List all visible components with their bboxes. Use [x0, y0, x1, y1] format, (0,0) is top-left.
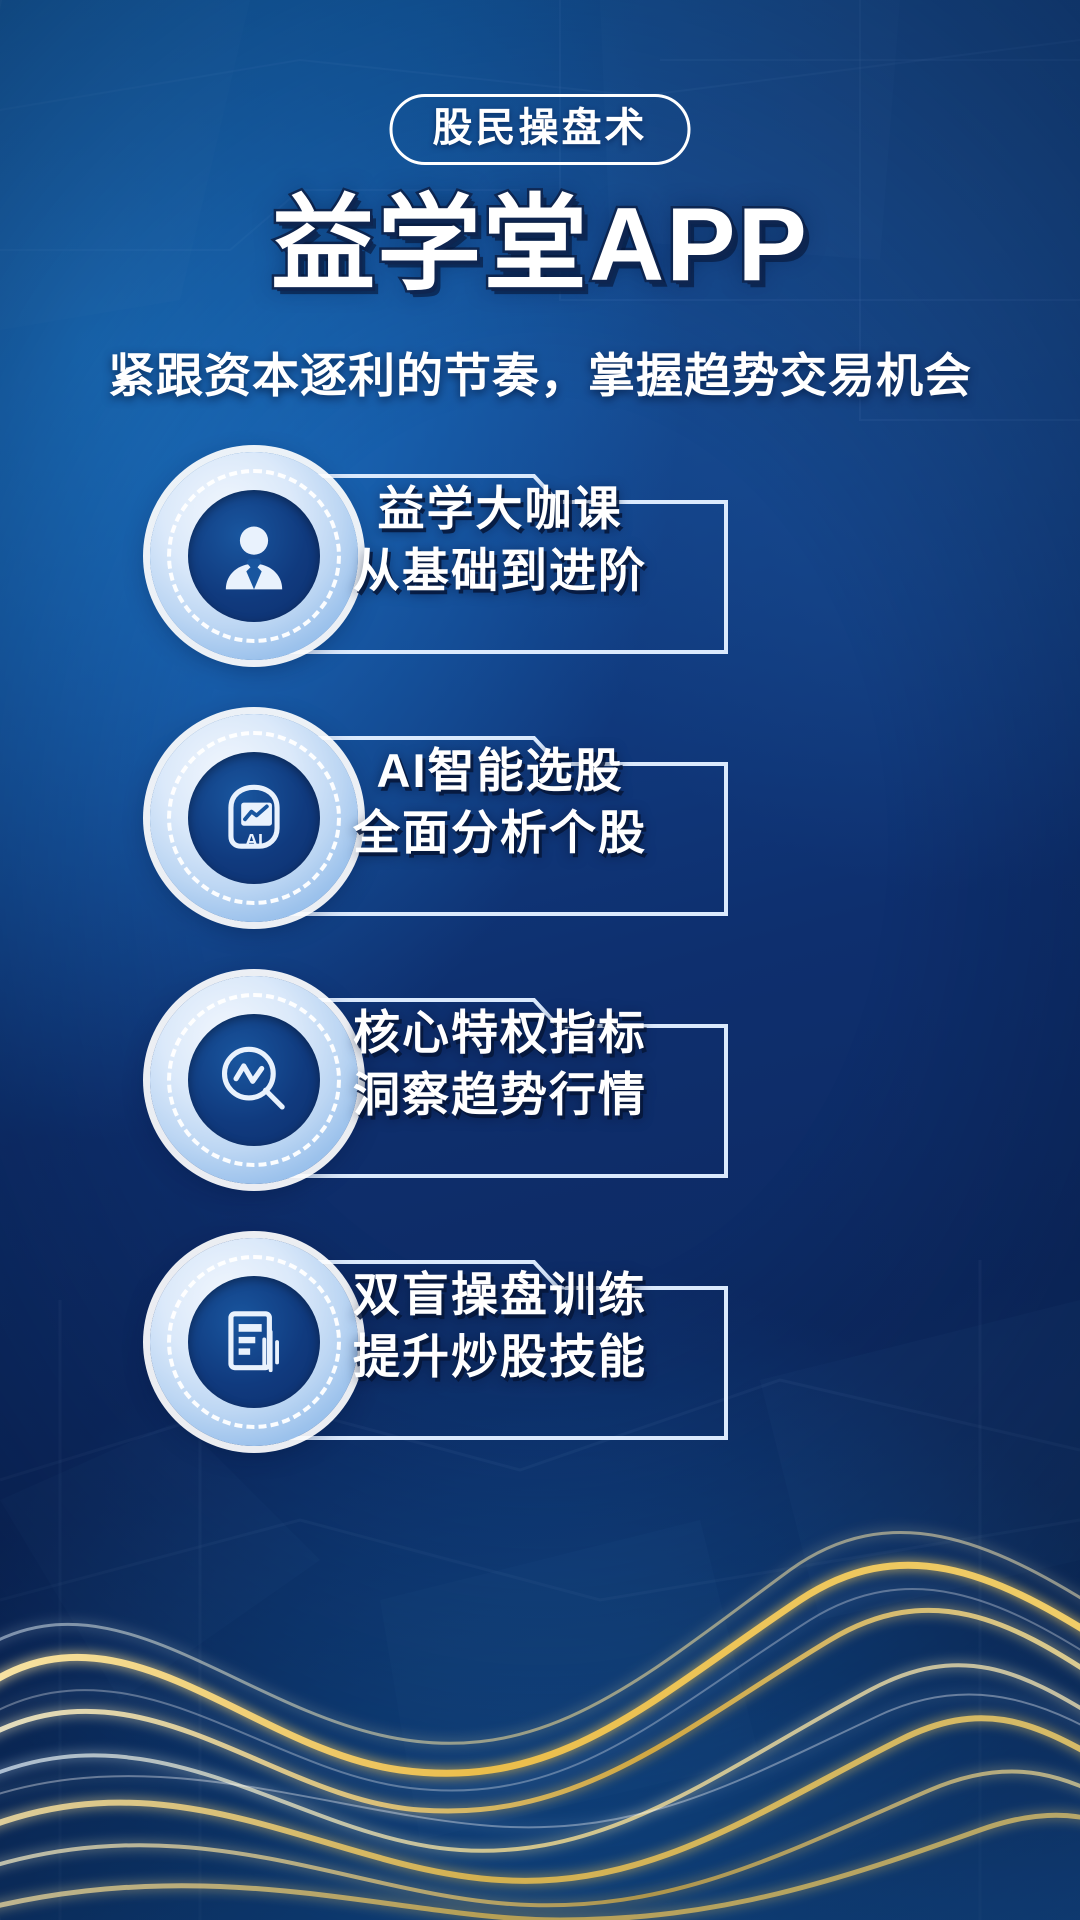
feature-card-text: AI智能选股 全面分析个股: [300, 740, 700, 864]
feature-line-1: 双盲操盘训练: [300, 1264, 700, 1326]
feature-line-1: AI智能选股: [300, 740, 700, 802]
feature-list: 益学大咖课 从基础到进阶 AI: [0, 452, 1080, 1500]
feature-line-1: 核心特权指标: [300, 1002, 700, 1064]
feature-line-2: 全面分析个股: [300, 802, 700, 864]
feature-card-text: 双盲操盘训练 提升炒股技能: [300, 1264, 700, 1388]
feature-card[interactable]: AI AI智能选股 全面分析个股: [0, 714, 1080, 976]
feature-line-1: 益学大咖课: [300, 478, 700, 540]
svg-text:AI: AI: [245, 830, 263, 850]
tagline-badge: 股民操盘术: [390, 94, 691, 165]
feature-card[interactable]: 核心特权指标 洞察趋势行情: [0, 976, 1080, 1238]
feature-line-2: 提升炒股技能: [300, 1326, 700, 1388]
feature-card[interactable]: 双盲操盘训练 提升炒股技能: [0, 1238, 1080, 1500]
feature-line-2: 洞察趋势行情: [300, 1064, 700, 1126]
page-title: 益学堂APP益学堂APP: [0, 188, 1080, 318]
poster-stage: 股民操盘术 益学堂APP益学堂APP 紧跟资本逐利的节奏，掌握趋势交易机会: [0, 0, 1080, 1920]
feature-card-text: 核心特权指标 洞察趋势行情: [300, 1002, 700, 1126]
feature-line-2: 从基础到进阶: [300, 540, 700, 602]
page-subtitle: 紧跟资本逐利的节奏，掌握趋势交易机会: [0, 337, 1080, 406]
page-title-text: 益学堂APP: [271, 188, 809, 302]
feature-card-text: 益学大咖课 从基础到进阶: [300, 478, 700, 602]
feature-card[interactable]: 益学大咖课 从基础到进阶: [0, 452, 1080, 714]
